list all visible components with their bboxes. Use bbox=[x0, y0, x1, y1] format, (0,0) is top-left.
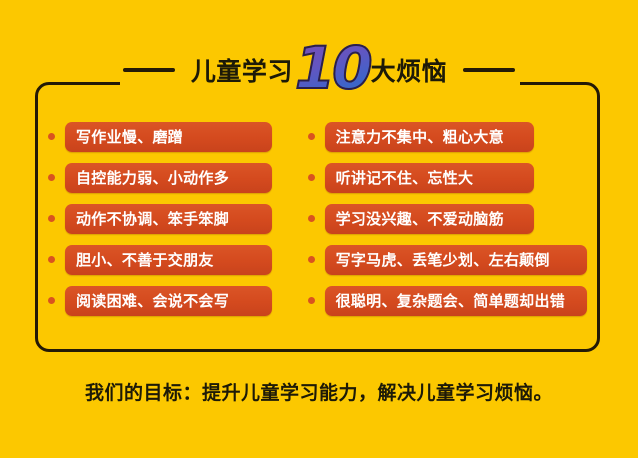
problem-label: 动作不协调、笨手笨脚 bbox=[65, 204, 272, 234]
list-item[interactable]: 自控能力弱、小动作多 bbox=[48, 162, 297, 193]
heading-rule-left bbox=[123, 68, 175, 72]
problem-label: 写作业慢、磨蹭 bbox=[65, 122, 272, 152]
list-item[interactable]: 听讲记不住、忘性大 bbox=[308, 162, 600, 193]
bullet-dot-icon bbox=[308, 256, 315, 263]
bullet-dot-icon bbox=[308, 215, 315, 222]
poster-canvas: 儿童学习 10 大烦恼 写作业慢、磨蹭 自控能力弱、小动作多 动作不协调、笨手笨… bbox=[0, 0, 638, 458]
problem-label: 很聪明、复杂题会、简单题却出错 bbox=[325, 286, 587, 316]
bullet-dot-icon bbox=[308, 174, 315, 181]
bullet-dot-icon bbox=[48, 215, 55, 222]
list-item[interactable]: 注意力不集中、粗心大意 bbox=[308, 121, 600, 152]
problem-column-right: 注意力不集中、粗心大意 听讲记不住、忘性大 学习没兴趣、不爱动脑筋 写字马虎、丢… bbox=[297, 100, 600, 330]
list-item[interactable]: 阅读困难、会说不会写 bbox=[48, 285, 297, 316]
list-item[interactable]: 很聪明、复杂题会、简单题却出错 bbox=[308, 285, 600, 316]
poster-heading: 儿童学习 10 大烦恼 bbox=[0, 38, 638, 96]
bullet-dot-icon bbox=[48, 256, 55, 263]
bullet-dot-icon bbox=[308, 297, 315, 304]
list-item[interactable]: 写作业慢、磨蹭 bbox=[48, 121, 297, 152]
problem-label: 写字马虎、丢笔少划、左右颠倒 bbox=[325, 245, 587, 275]
list-item[interactable]: 学习没兴趣、不爱动脑筋 bbox=[308, 203, 600, 234]
heading-suffix: 大烦恼 bbox=[371, 59, 448, 84]
problem-label: 胆小、不善于交朋友 bbox=[65, 245, 272, 275]
bullet-dot-icon bbox=[308, 133, 315, 140]
problem-columns: 写作业慢、磨蹭 自控能力弱、小动作多 动作不协调、笨手笨脚 胆小、不善于交朋友 … bbox=[35, 100, 600, 330]
list-item[interactable]: 胆小、不善于交朋友 bbox=[48, 244, 297, 275]
problem-label: 自控能力弱、小动作多 bbox=[65, 163, 272, 193]
bullet-dot-icon bbox=[48, 133, 55, 140]
bullet-dot-icon bbox=[48, 174, 55, 181]
problem-label: 听讲记不住、忘性大 bbox=[325, 163, 534, 193]
problem-label: 阅读困难、会说不会写 bbox=[65, 286, 272, 316]
problem-column-left: 写作业慢、磨蹭 自控能力弱、小动作多 动作不协调、笨手笨脚 胆小、不善于交朋友 … bbox=[35, 100, 297, 330]
bullet-dot-icon bbox=[48, 297, 55, 304]
heading-rule-right bbox=[463, 68, 515, 72]
list-item[interactable]: 写字马虎、丢笔少划、左右颠倒 bbox=[308, 244, 600, 275]
problem-label: 注意力不集中、粗心大意 bbox=[325, 122, 534, 152]
footer-tagline: 我们的目标：提升儿童学习能力，解决儿童学习烦恼。 bbox=[0, 378, 638, 405]
problem-label: 学习没兴趣、不爱动脑筋 bbox=[325, 204, 534, 234]
list-item[interactable]: 动作不协调、笨手笨脚 bbox=[48, 203, 297, 234]
heading-number: 10 bbox=[295, 39, 370, 97]
heading-prefix: 儿童学习 bbox=[191, 59, 293, 84]
